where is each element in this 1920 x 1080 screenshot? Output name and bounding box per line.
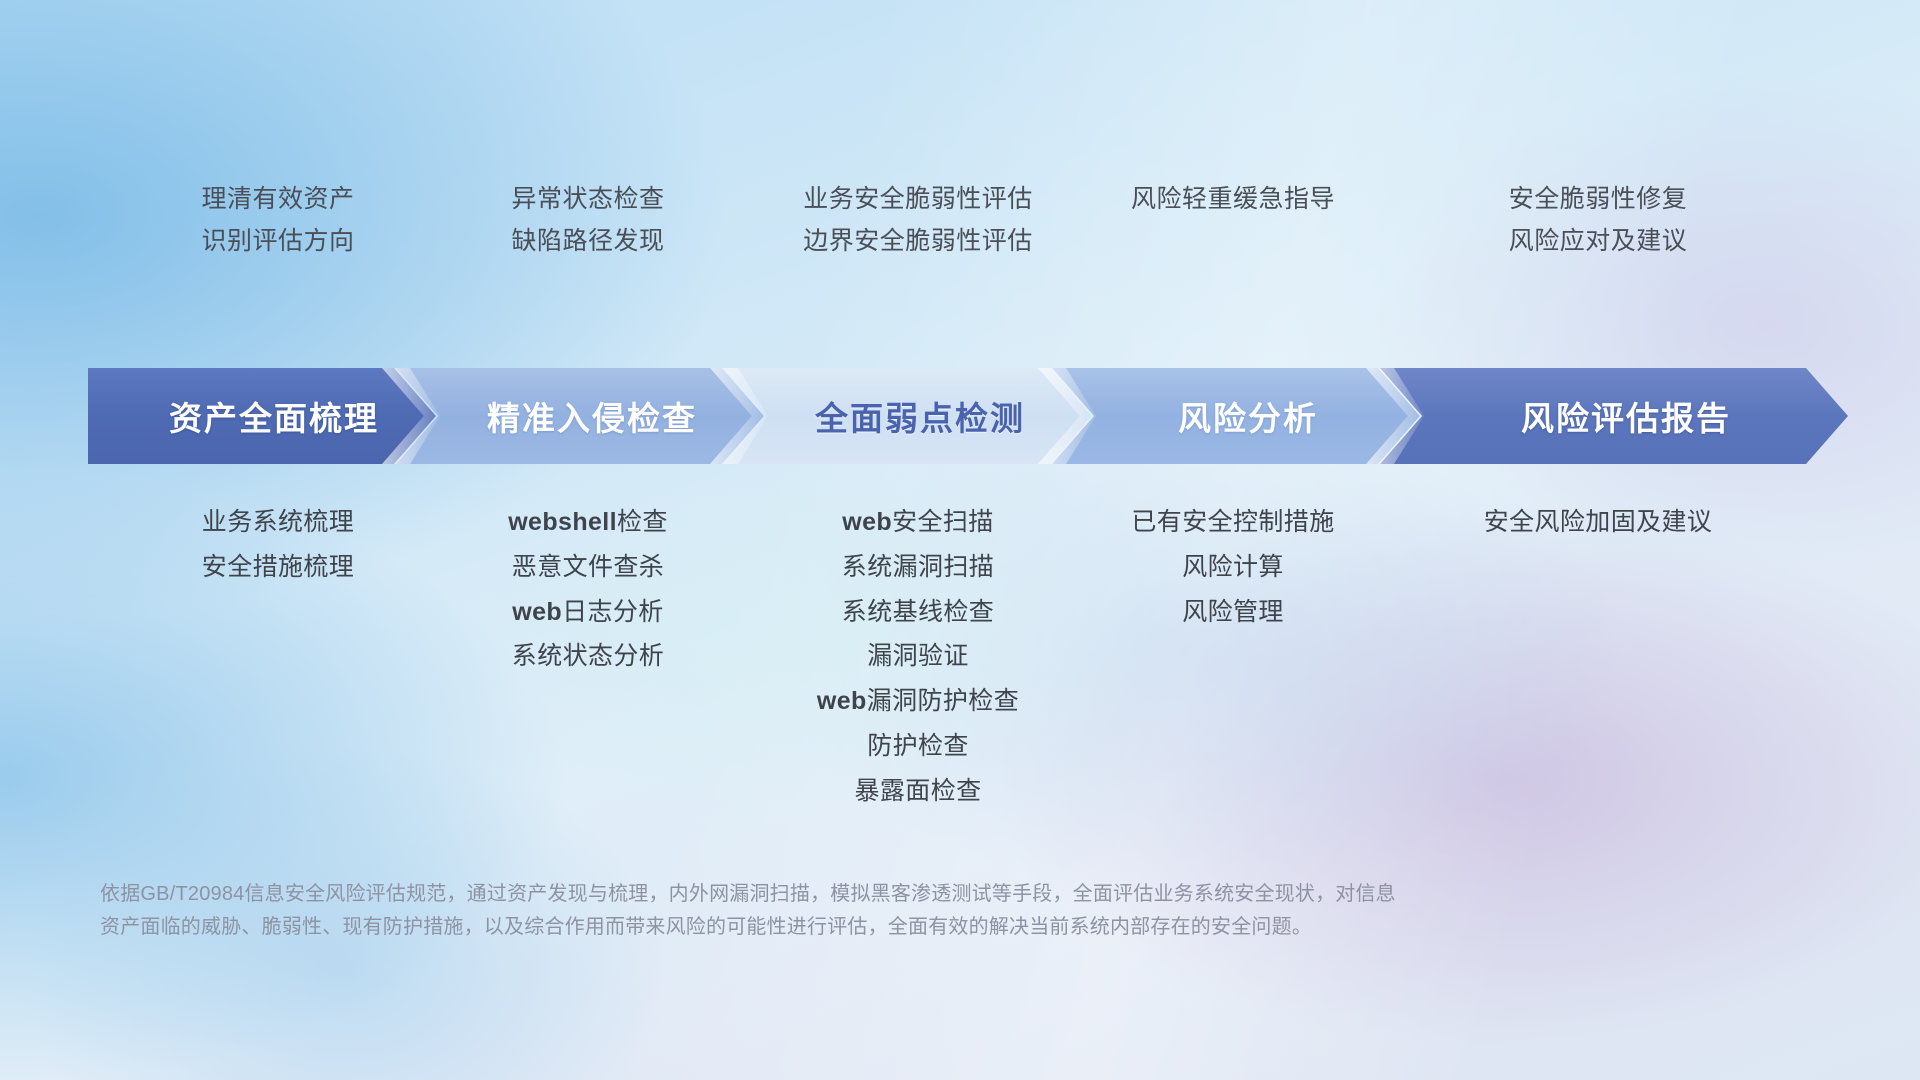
detail-item: web漏洞防护检查 — [817, 687, 1019, 716]
detail-item-text: 日志分析 — [562, 598, 664, 626]
top-caption-column-4: 风险轻重缓急指导 — [1131, 186, 1335, 214]
detail-item: web日志分析 — [512, 598, 663, 627]
top-caption-item: 风险轻重缓急指导 — [1131, 186, 1335, 214]
chevron-stage-5[interactable]: 风险评估报告 — [1380, 368, 1848, 464]
footer-line-2: 资产面临的威胁、脆弱性、现有防护措施，以及综合作用而带来风险的可能性进行评估，全… — [100, 911, 1660, 944]
top-caption-column-1: 理清有效资产识别评估方向 — [201, 186, 354, 255]
top-caption-item: 业务安全脆弱性评估 — [803, 186, 1033, 214]
process-diagram: 理清有效资产识别评估方向异常状态检查缺陷路径发现业务安全脆弱性评估边界安全脆弱性… — [0, 0, 1920, 1080]
top-caption-column-3: 业务安全脆弱性评估边界安全脆弱性评估 — [803, 186, 1033, 255]
detail-column-2: webshell检查恶意文件查杀web日志分析系统状态分析 — [508, 508, 668, 671]
detail-item: 系统基线检查 — [842, 598, 994, 627]
chevron-stage-title: 风险评估报告 — [1497, 392, 1731, 440]
detail-item: 系统状态分析 — [512, 642, 664, 671]
detail-column-3: web安全扫描系统漏洞扫描系统基线检查漏洞验证web漏洞防护检查防护检查暴露面检… — [817, 508, 1019, 805]
detail-item: 业务系统梳理 — [202, 508, 354, 537]
detail-item-text: 漏洞防护检查 — [867, 687, 1019, 715]
detail-column-5: 安全风险加固及建议 — [1484, 508, 1713, 537]
top-caption-item: 风险应对及建议 — [1509, 228, 1688, 256]
chevron-stage-title: 全面弱点检测 — [791, 392, 1025, 440]
detail-item: 风险计算 — [1182, 553, 1284, 582]
detail-item: 漏洞验证 — [867, 642, 969, 671]
detail-column-1: 业务系统梳理安全措施梳理 — [202, 508, 354, 582]
detail-item-prefix: web — [512, 598, 562, 626]
chevron-stage-title: 精准入侵检查 — [463, 392, 697, 440]
detail-column-4: 已有安全控制措施风险计算风险管理 — [1131, 508, 1334, 626]
detail-item: web安全扫描 — [842, 508, 993, 537]
detail-item: 防护检查 — [867, 732, 969, 761]
detail-item: 风险管理 — [1182, 598, 1284, 627]
bottom-detail-row: 业务系统梳理安全措施梳理webshell检查恶意文件查杀web日志分析系统状态分… — [0, 508, 1920, 838]
detail-item: 恶意文件查杀 — [512, 553, 664, 582]
footer-description: 依据GB/T20984信息安全风险评估规范，通过资产发现与梳理，内外网漏洞扫描，… — [100, 878, 1660, 944]
footer-line-1: 依据GB/T20984信息安全风险评估规范，通过资产发现与梳理，内外网漏洞扫描，… — [100, 878, 1660, 911]
detail-item-text: 安全扫描 — [892, 508, 994, 536]
top-caption-item: 安全脆弱性修复 — [1509, 186, 1688, 214]
chevron-stage-2[interactable]: 精准入侵检查 — [396, 368, 764, 464]
top-caption-item: 理清有效资产 — [201, 186, 354, 214]
detail-item-prefix: web — [842, 508, 892, 536]
chevron-stage-3[interactable]: 全面弱点检测 — [724, 368, 1092, 464]
detail-item-text: 检查 — [617, 508, 668, 536]
top-caption-item: 缺陷路径发现 — [511, 228, 664, 256]
chevron-stage-1[interactable]: 资产全面梳理 — [88, 368, 436, 464]
detail-item-prefix: web — [817, 687, 867, 715]
top-caption-item: 识别评估方向 — [201, 228, 354, 256]
top-caption-item: 边界安全脆弱性评估 — [803, 228, 1033, 256]
chevron-stage-4[interactable]: 风险分析 — [1052, 368, 1420, 464]
detail-item: 已有安全控制措施 — [1131, 508, 1334, 537]
top-caption-column-2: 异常状态检查缺陷路径发现 — [511, 186, 664, 255]
top-caption-column-5: 安全脆弱性修复风险应对及建议 — [1509, 186, 1688, 255]
detail-item: 安全风险加固及建议 — [1484, 508, 1713, 537]
chevron-process-band: 资产全面梳理精准入侵检查全面弱点检测风险分析风险评估报告 — [88, 368, 1848, 464]
detail-item: 安全措施梳理 — [202, 553, 354, 582]
top-caption-item: 异常状态检查 — [511, 186, 664, 214]
top-caption-row: 理清有效资产识别评估方向异常状态检查缺陷路径发现业务安全脆弱性评估边界安全脆弱性… — [0, 186, 1920, 306]
detail-item-prefix: webshell — [508, 508, 617, 536]
detail-item: webshell检查 — [508, 508, 668, 537]
detail-item: 暴露面检查 — [854, 777, 981, 806]
detail-item: 系统漏洞扫描 — [842, 553, 994, 582]
chevron-stage-title: 资产全面梳理 — [145, 392, 379, 440]
chevron-stage-title: 风险分析 — [1154, 392, 1318, 440]
